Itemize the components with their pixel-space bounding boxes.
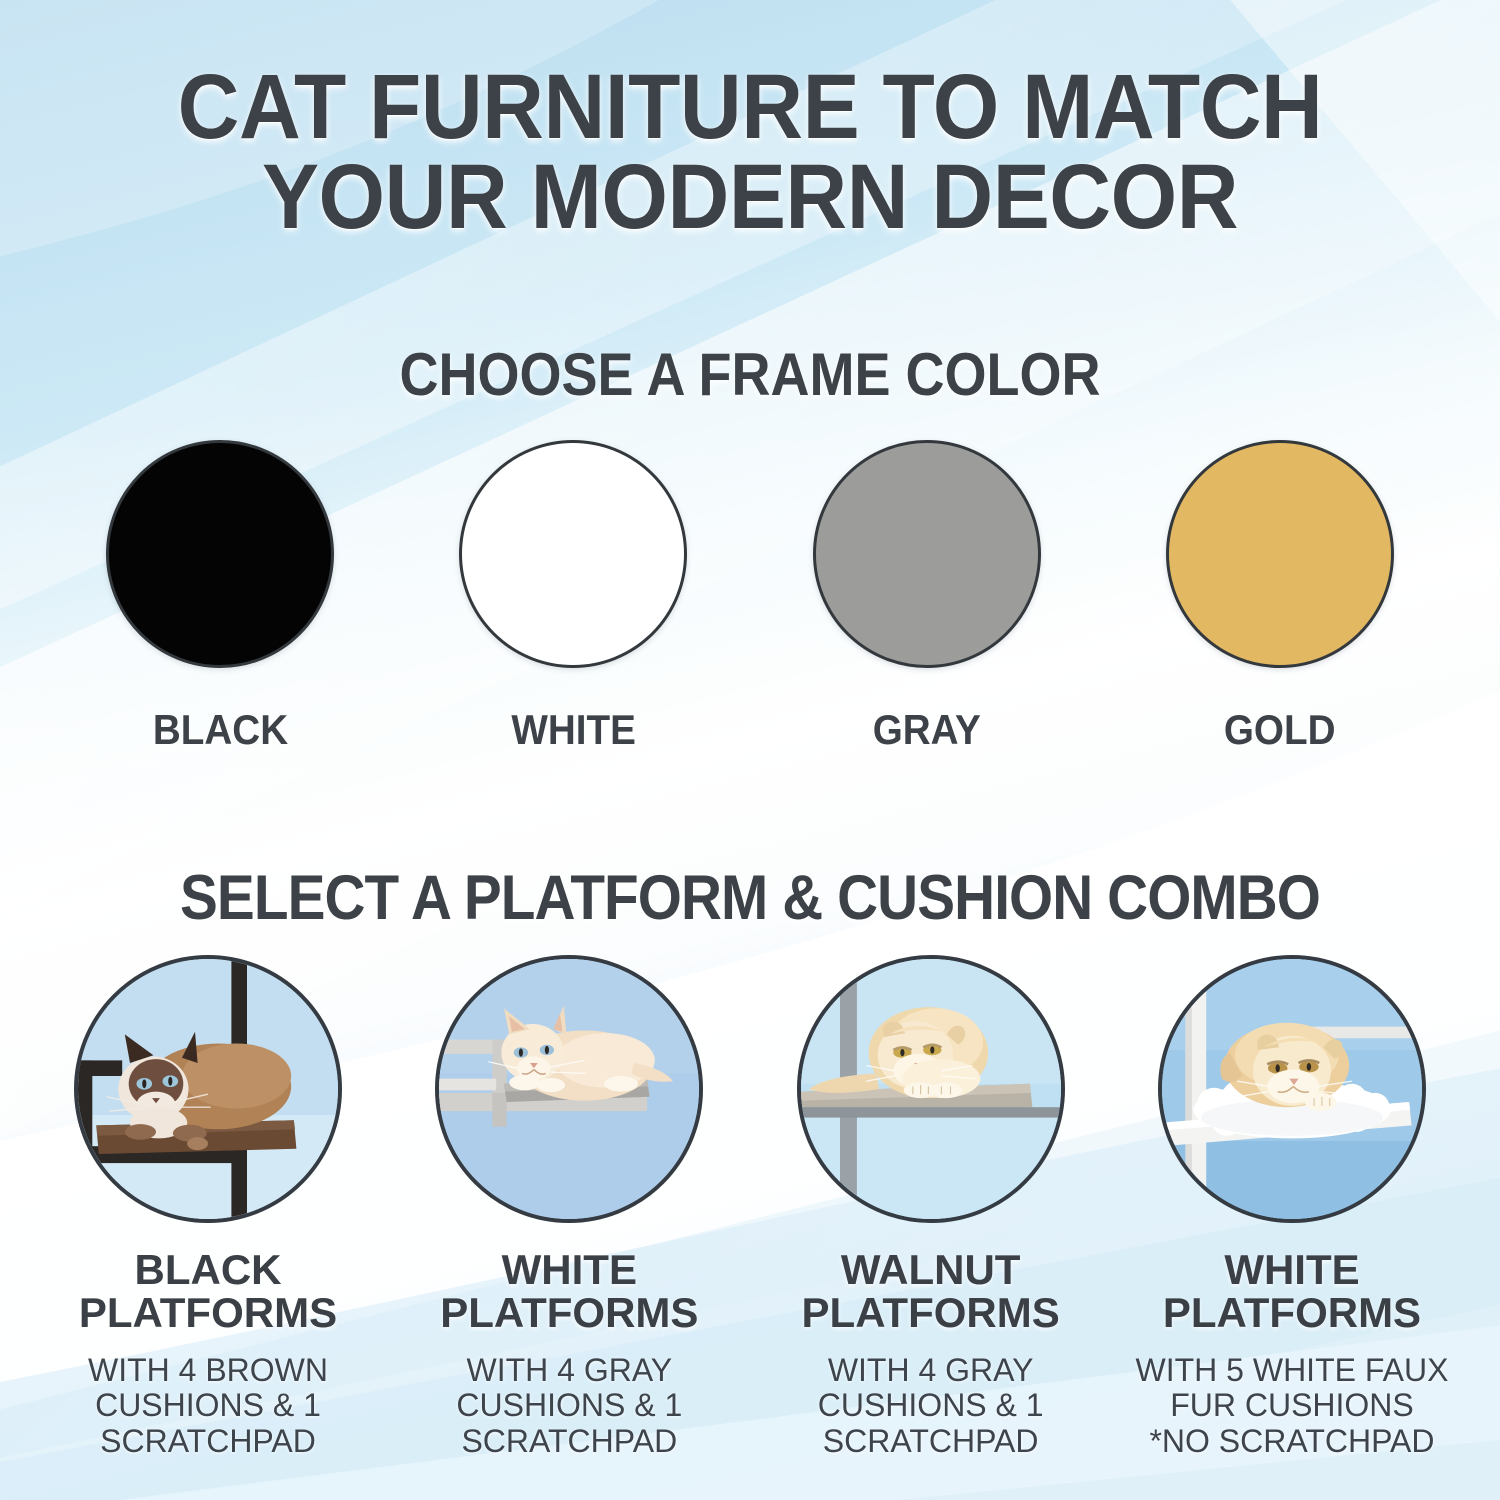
color-swatch-black[interactable] [106, 440, 334, 668]
frame-color-option-gold[interactable]: GOLD [1130, 440, 1430, 754]
combo-title-line-1: WHITE [1163, 1249, 1421, 1292]
siamese-cat-on-black-platform-photo [78, 959, 338, 1219]
combo-option-white-platforms-faux-fur[interactable]: WHITE PLATFORMS WITH 5 WHITE FAUX FUR CU… [1116, 955, 1468, 1460]
combo-description-white-platforms-gray: WITH 4 GRAY CUSHIONS & 1 SCRATCHPAD [456, 1353, 682, 1460]
headline-line-1: CAT FURNITURE TO MATCH [178, 56, 1323, 158]
combo-title-line-1: BLACK [79, 1249, 337, 1292]
combo-description-walnut-platforms: WITH 4 GRAY CUSHIONS & 1 SCRATCHPAD [818, 1353, 1044, 1460]
frame-color-section-title: CHOOSE A FRAME COLOR [75, 340, 1425, 409]
combo-section-title: SELECT A PLATFORM & CUSHION COMBO [75, 862, 1425, 934]
combo-photo-black-platforms[interactable] [74, 955, 342, 1223]
combo-title-walnut-platforms: WALNUT PLATFORMS [802, 1249, 1060, 1335]
combo-description-black-platforms: WITH 4 BROWN CUSHIONS & 1 SCRATCHPAD [88, 1353, 328, 1460]
combo-sub-line-2: CUSHIONS & 1 [818, 1388, 1044, 1424]
color-swatch-label-black: BLACK [152, 706, 287, 754]
combo-title-line-2: PLATFORMS [79, 1292, 337, 1335]
combo-title-line-2: PLATFORMS [440, 1292, 698, 1335]
combo-sub-line-3: SCRATCHPAD [818, 1424, 1044, 1460]
combo-sub-line-1: WITH 4 GRAY [818, 1353, 1044, 1389]
combo-option-black-platforms[interactable]: BLACK PLATFORMS WITH 4 BROWN CUSHIONS & … [32, 955, 384, 1460]
headline-line-2: YOUR MODERN DECOR [53, 152, 1448, 242]
combo-sub-line-3: SCRATCHPAD [456, 1424, 682, 1460]
combo-title-white-platforms-gray: WHITE PLATFORMS [440, 1249, 698, 1335]
combo-sub-line-2: CUSHIONS & 1 [456, 1388, 682, 1424]
cream-cat-on-white-platform-photo [439, 959, 699, 1219]
color-swatch-label-gray: GRAY [873, 706, 981, 754]
combo-sub-line-1: WITH 4 BROWN [88, 1353, 328, 1389]
frame-color-option-black[interactable]: BLACK [70, 440, 370, 754]
combo-description-white-platforms-faux-fur: WITH 5 WHITE FAUX FUR CUSHIONS *NO SCRAT… [1136, 1353, 1449, 1460]
combo-option-walnut-platforms[interactable]: WALNUT PLATFORMS WITH 4 GRAY CUSHIONS & … [755, 955, 1107, 1460]
combo-sub-line-3: SCRATCHPAD [88, 1424, 328, 1460]
frame-color-option-gray[interactable]: GRAY [777, 440, 1077, 754]
combo-title-line-1: WHITE [440, 1249, 698, 1292]
golden-cat-on-faux-fur-photo [1162, 959, 1422, 1219]
color-swatch-white[interactable] [459, 440, 687, 668]
combo-sub-line-3: *NO SCRATCHPAD [1136, 1424, 1449, 1460]
combo-sub-line-2: FUR CUSHIONS [1136, 1388, 1449, 1424]
combo-title-white-platforms-faux-fur: WHITE PLATFORMS [1163, 1249, 1421, 1335]
page-title: CAT FURNITURE TO MATCH YOUR MODERN DECOR [53, 62, 1448, 242]
combo-photo-white-platforms-gray[interactable] [435, 955, 703, 1223]
frame-color-swatch-list: BLACK WHITE GRAY GOLD [70, 440, 1430, 780]
golden-cat-on-walnut-platform-photo [801, 959, 1061, 1219]
combo-option-white-platforms-gray[interactable]: WHITE PLATFORMS WITH 4 GRAY CUSHIONS & 1… [393, 955, 745, 1460]
combo-sub-line-1: WITH 5 WHITE FAUX [1136, 1353, 1449, 1389]
combo-title-line-1: WALNUT [802, 1249, 1060, 1292]
combo-title-black-platforms: BLACK PLATFORMS [79, 1249, 337, 1335]
frame-color-option-white[interactable]: WHITE [423, 440, 723, 754]
combo-sub-line-1: WITH 4 GRAY [456, 1353, 682, 1389]
color-swatch-gold[interactable] [1166, 440, 1394, 668]
platform-cushion-option-list: BLACK PLATFORMS WITH 4 BROWN CUSHIONS & … [32, 955, 1468, 1460]
combo-sub-line-2: CUSHIONS & 1 [88, 1388, 328, 1424]
combo-title-line-2: PLATFORMS [802, 1292, 1060, 1335]
color-swatch-gray[interactable] [813, 440, 1041, 668]
combo-photo-white-platforms-faux-fur[interactable] [1158, 955, 1426, 1223]
combo-photo-walnut-platforms[interactable] [797, 955, 1065, 1223]
combo-title-line-2: PLATFORMS [1163, 1292, 1421, 1335]
color-swatch-label-white: WHITE [511, 706, 635, 754]
color-swatch-label-gold: GOLD [1224, 706, 1336, 754]
